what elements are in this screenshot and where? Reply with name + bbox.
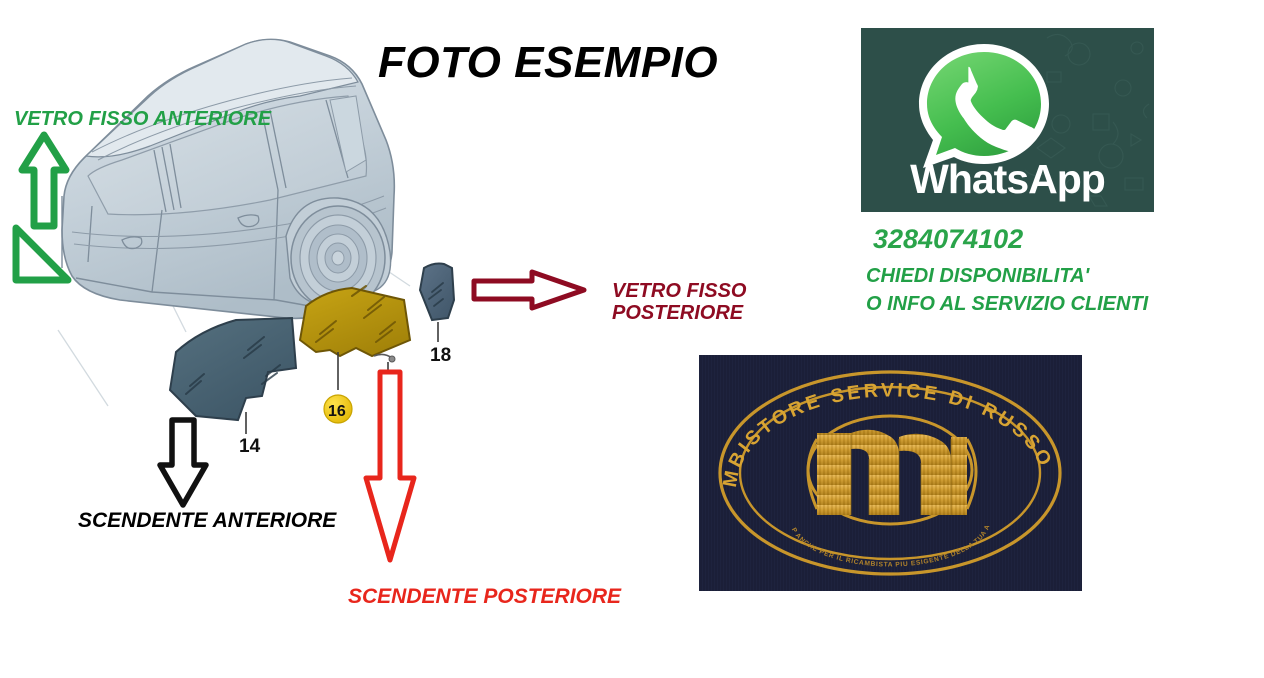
up-arrow-green-icon xyxy=(6,130,76,290)
down-arrow-red-icon xyxy=(358,368,422,573)
whatsapp-wordmark: WhatsApp xyxy=(861,156,1154,203)
parts-diagram: 14 16 17 xyxy=(0,0,520,470)
phone-number[interactable]: 3284074102 xyxy=(873,224,1023,255)
contact-line-1: CHIEDI DISPONIBILITA' xyxy=(866,265,1089,288)
whatsapp-banner: WhatsApp xyxy=(861,28,1154,212)
svg-text:16: 16 xyxy=(328,403,346,420)
car-illustration xyxy=(62,39,394,318)
brand-monogram xyxy=(808,430,976,515)
svg-text:14: 14 xyxy=(239,436,261,457)
label-scendente-posteriore: SCENDENTE POSTERIORE xyxy=(348,585,621,609)
label-scendente-anteriore: SCENDENTE ANTERIORE xyxy=(78,509,336,533)
label-vfp-line2: POSTERIORE xyxy=(612,302,746,324)
label-vetro-fisso-anteriore: VETRO FISSO ANTERIORE xyxy=(14,108,271,130)
right-arrow-dark-red-icon xyxy=(470,268,588,317)
brand-logo: MRICAMBISTORE SERVICE DI RUSSO MARCO IL … xyxy=(699,355,1082,591)
contact-line-2: O INFO AL SERVIZIO CLIENTI xyxy=(866,293,1148,316)
svg-text:18: 18 xyxy=(430,345,451,366)
part-18-glass: 18 xyxy=(420,264,454,367)
label-vetro-fisso-posteriore: VETRO FISSO POSTERIORE xyxy=(612,280,746,325)
down-arrow-black-icon xyxy=(155,415,211,515)
label-vfp-line1: VETRO FISSO xyxy=(612,280,746,302)
